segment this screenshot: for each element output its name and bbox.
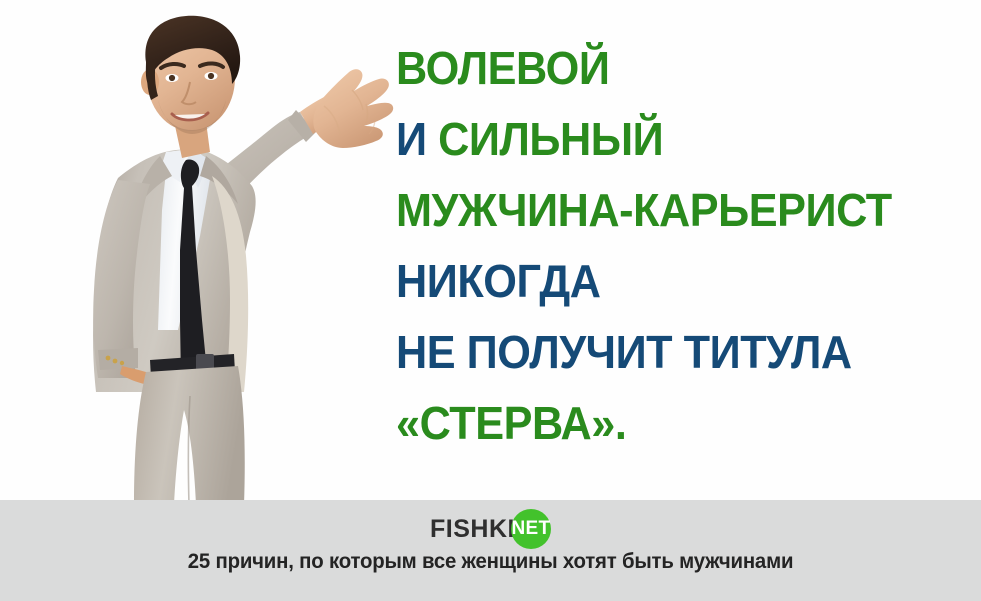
pupil: [208, 73, 214, 79]
footer-bar: FISHKI NET 25 причин, по которым все жен…: [0, 500, 981, 601]
headline-line-2: И СИЛЬНЫЙ: [396, 104, 941, 175]
sleeve-cuff-left: [98, 348, 138, 370]
cuff-button: [113, 359, 118, 364]
headline-line-2-blue-word: И: [396, 113, 427, 165]
logo-wordmark: FISHKI: [430, 515, 515, 544]
headline-line-1: ВОЛЕВОЙ: [396, 33, 941, 104]
fishki-net-logo[interactable]: FISHKI NET: [0, 512, 981, 546]
headline-line-4: НИКОГДА: [396, 246, 941, 317]
footer-caption: 25 причин, по которым все женщины хотят …: [15, 550, 967, 574]
cuff-button: [120, 361, 124, 365]
headline-line-3: МУЖЧИНА-КАРЬЕРИСТ: [396, 175, 941, 246]
headline-block: ВОЛЕВОЙ И СИЛЬНЫЙ МУЖЧИНА-КАРЬЕРИСТ НИКО…: [396, 33, 976, 459]
businessman-photo: [0, 0, 400, 505]
headline-line-2-space: [427, 113, 439, 165]
cuff-button: [106, 356, 111, 361]
logo-net-badge: NET: [511, 509, 551, 549]
headline-line-5: НЕ ПОЛУЧИТ ТИТУЛА: [396, 317, 941, 388]
headline-line-6: «СТЕРВА».: [396, 388, 941, 459]
headline-line-2-green-word: СИЛЬНЫЙ: [438, 113, 663, 165]
logo-net-text: NET: [512, 518, 551, 540]
image-card: ВОЛЕВОЙ И СИЛЬНЫЙ МУЖЧИНА-КАРЬЕРИСТ НИКО…: [0, 0, 981, 601]
pupil: [169, 75, 175, 81]
businessman-illustration: [0, 0, 400, 505]
